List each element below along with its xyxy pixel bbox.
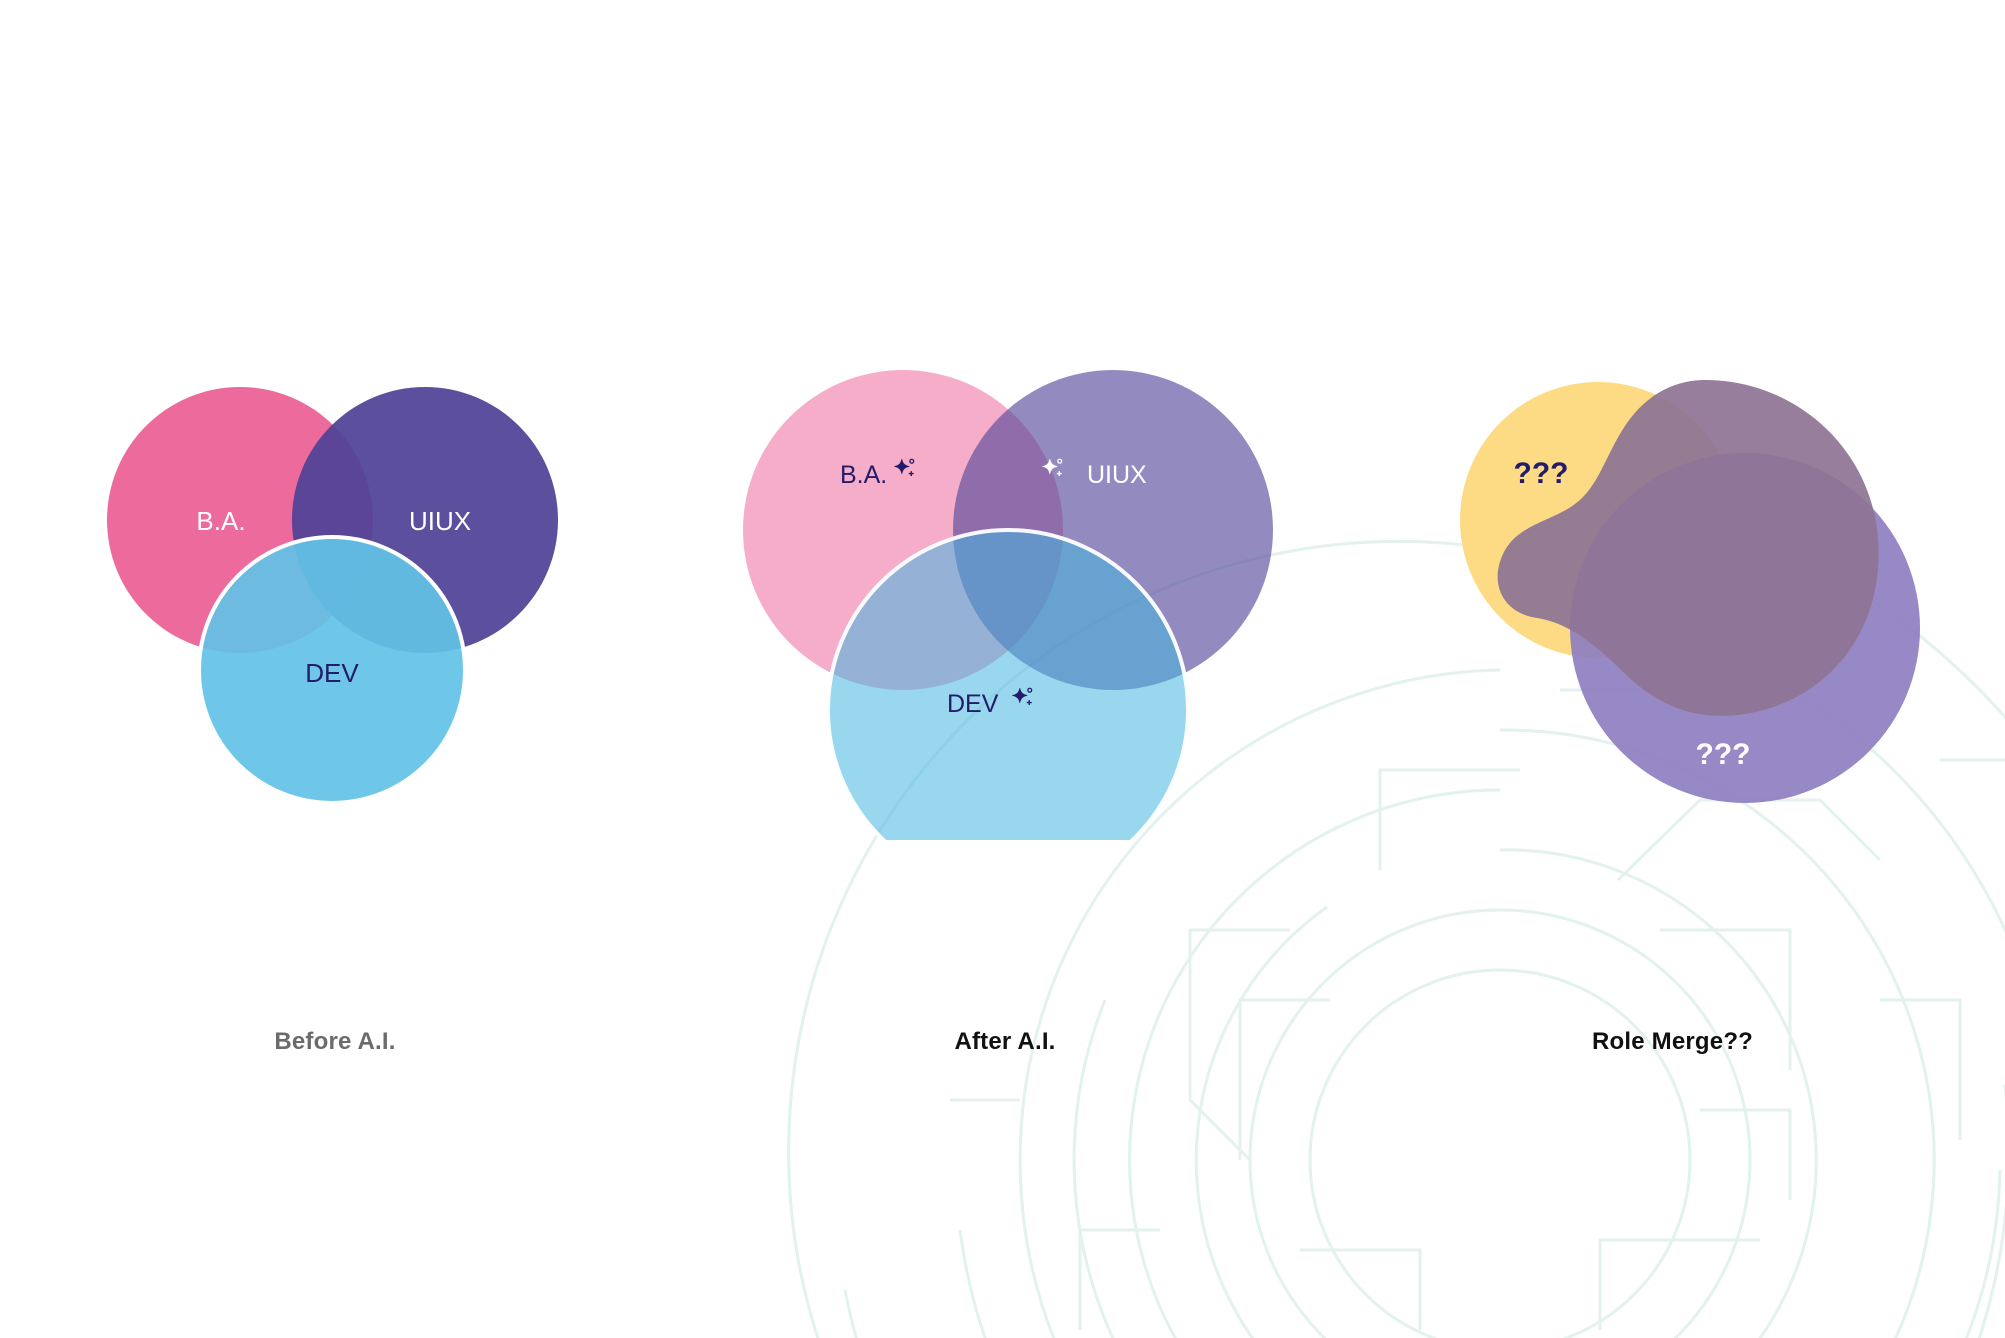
venn-after-ai-svg: B.A. UIUX DEV (725, 370, 1285, 840)
venn-before-ai-svg: B.A. UIUX DEV (55, 370, 615, 840)
panel-before-ai: B.A. UIUX DEV Before A.I. (0, 0, 670, 1338)
venn-label-ba: B.A. (840, 461, 887, 489)
venn-label-uiux: UIUX (1087, 461, 1147, 489)
panel-caption-role-merge: Role Merge?? (1340, 1028, 2005, 1056)
venn-role-merge: ??? ??? (1340, 370, 2005, 890)
venn-before-ai: B.A. UIUX DEV (0, 370, 670, 890)
panel-caption-after-ai: After A.I. (670, 1028, 1340, 1056)
panel-caption-before-ai: Before A.I. (0, 1028, 670, 1056)
merge-label-q2: ??? (1695, 738, 1750, 771)
panel-role-merge: ??? ??? Role Merge?? (1340, 0, 2005, 1338)
venn-label-uiux: UIUX (409, 506, 471, 536)
venn-label-dev: DEV (305, 658, 359, 688)
venn-after-ai: B.A. UIUX DEV (670, 370, 1340, 890)
diagram-canvas: B.A. UIUX DEV Before A.I. (0, 0, 2005, 1338)
venn-label-ba: B.A. (196, 506, 245, 536)
panel-after-ai: B.A. UIUX DEV (670, 0, 1340, 1338)
venn-role-merge-svg: ??? ??? (1393, 370, 1953, 840)
panels-row: B.A. UIUX DEV Before A.I. (0, 0, 2005, 1338)
merge-label-q1: ??? (1513, 457, 1568, 490)
venn-label-dev: DEV (947, 690, 999, 718)
